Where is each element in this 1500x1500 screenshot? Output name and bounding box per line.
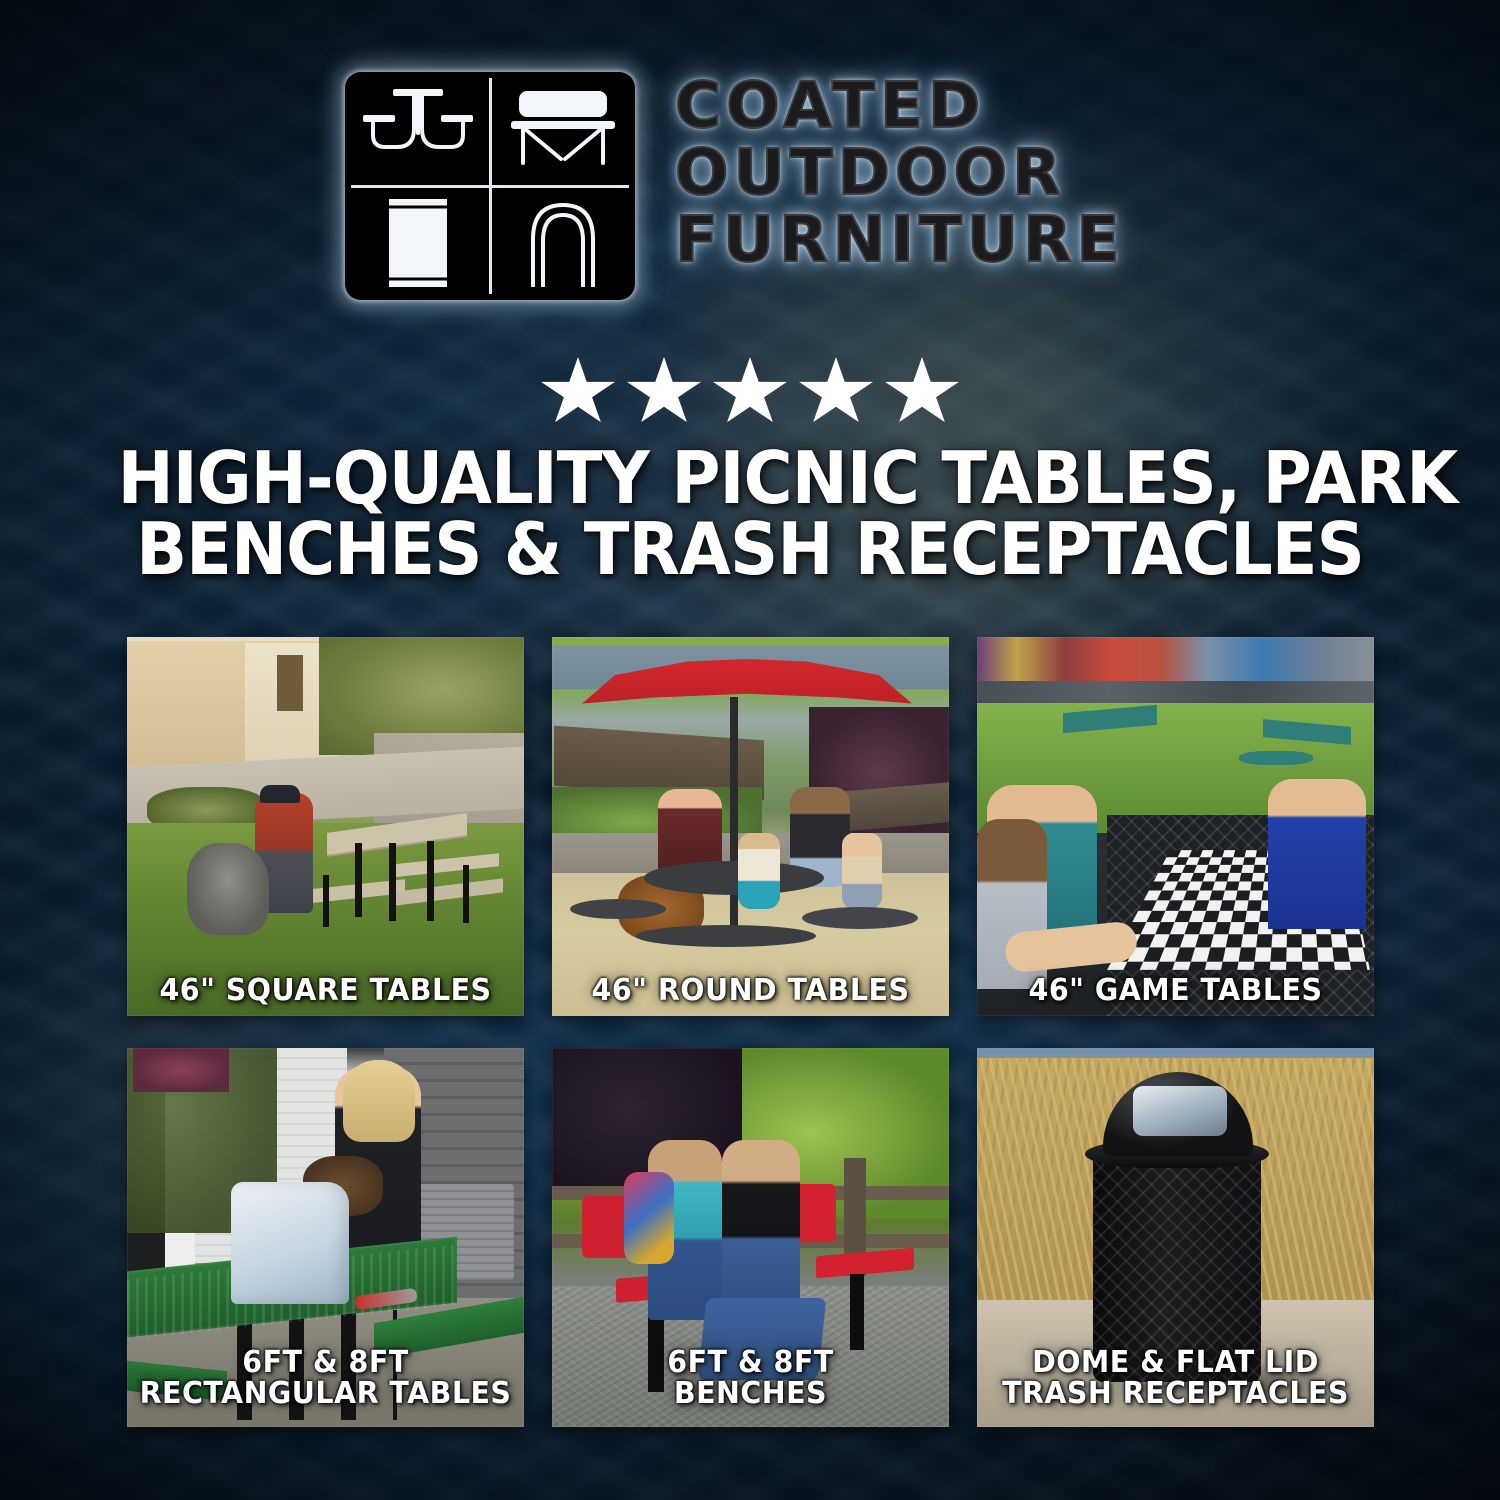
product-caption: 46" SQUARE TABLES <box>137 975 514 1006</box>
product-caption-line-2: BENCHES <box>562 1378 939 1409</box>
trash-receptacle-icon <box>345 186 490 300</box>
bike-rack-icon <box>490 186 635 300</box>
marketing-banner: COATED OUTDOOR FURNITURE HIGH-QUALITY PI… <box>0 0 1500 1500</box>
park-bench-icon <box>490 72 635 186</box>
logo-divider-horizontal <box>351 185 629 188</box>
product-caption-line-1: 46" ROUND TABLES <box>592 973 910 1008</box>
product-caption-line-2: RECTANGULAR TABLES <box>137 1378 514 1409</box>
star-icon <box>627 357 701 427</box>
picnic-table-icon <box>345 72 490 186</box>
product-caption: 6FT & 8FT BENCHES <box>562 1347 939 1409</box>
star-icon <box>885 357 959 427</box>
product-photo-game-tables <box>977 637 1374 1016</box>
product-photo-square-tables <box>127 637 524 1016</box>
product-tile-game-tables[interactable]: 46" GAME TABLES <box>977 637 1374 1016</box>
product-tile-benches[interactable]: 6FT & 8FT BENCHES <box>552 1048 949 1427</box>
logo-line-3: FURNITURE <box>675 208 1125 273</box>
star-rating <box>0 357 1500 427</box>
product-tile-round-tables[interactable]: 46" ROUND TABLES <box>552 637 949 1016</box>
brand-logo: COATED OUTDOOR FURNITURE <box>345 72 1165 304</box>
star-icon <box>713 357 787 427</box>
product-caption: 46" GAME TABLES <box>987 975 1364 1006</box>
star-icon <box>541 357 615 427</box>
logo-line-1: COATED <box>675 74 1125 139</box>
product-tile-trash-receptacles[interactable]: DOME & FLAT LID TRASH RECEPTACLES <box>977 1048 1374 1427</box>
logo-mark-quadrants <box>345 72 635 300</box>
product-caption-line-1: 46" SQUARE TABLES <box>159 973 491 1008</box>
product-caption: 6FT & 8FT RECTANGULAR TABLES <box>137 1347 514 1409</box>
star-icon <box>799 357 873 427</box>
headline-line-2: BENCHES & TRASH RECEPTACLES <box>118 514 1383 585</box>
product-caption-line-1: 46" GAME TABLES <box>1029 973 1323 1008</box>
logo-line-2: OUTDOOR <box>675 141 1125 206</box>
product-grid: 46" SQUARE TABLES 46" ROUND TABLES <box>127 637 1374 1427</box>
product-caption: 46" ROUND TABLES <box>562 975 939 1006</box>
product-photo-round-tables <box>552 637 949 1016</box>
page-title: HIGH-QUALITY PICNIC TABLES, PARK BENCHES… <box>118 443 1383 586</box>
logo-wordmark: COATED OUTDOOR FURNITURE <box>675 72 1125 273</box>
product-caption-line-1: 6FT & 8FT <box>667 1345 833 1380</box>
product-caption-line-1: 6FT & 8FT <box>242 1345 408 1380</box>
product-tile-square-tables[interactable]: 46" SQUARE TABLES <box>127 637 524 1016</box>
product-caption-line-2: TRASH RECEPTACLES <box>987 1378 1364 1409</box>
product-caption: DOME & FLAT LID TRASH RECEPTACLES <box>987 1347 1364 1409</box>
headline-line-1: HIGH-QUALITY PICNIC TABLES, PARK <box>118 443 1383 514</box>
product-tile-rectangular-tables[interactable]: 6FT & 8FT RECTANGULAR TABLES <box>127 1048 524 1427</box>
product-caption-line-1: DOME & FLAT LID <box>1032 1345 1319 1380</box>
